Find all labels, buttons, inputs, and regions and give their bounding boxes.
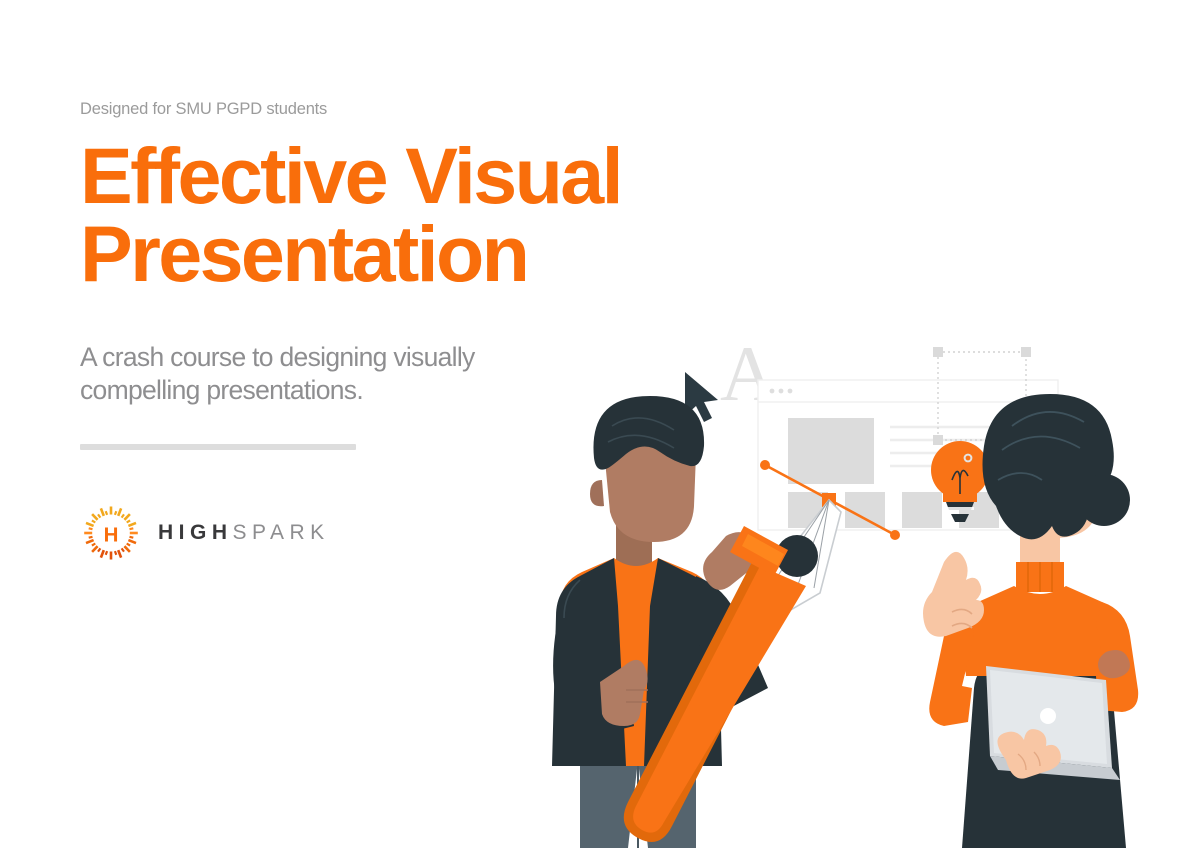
- svg-text:H: H: [104, 524, 119, 547]
- logo-word-high: HIGH: [158, 521, 233, 545]
- logo-word-spark: SPARK: [233, 521, 330, 545]
- designers-at-work-illustration: A: [520, 330, 1200, 848]
- highspark-wordmark: HIGH SPARK: [158, 521, 330, 545]
- highspark-sunburst-icon: H: [80, 502, 142, 564]
- page-title-line-2: Presentation: [80, 215, 640, 293]
- eyebrow-text: Designed for SMU PGPD students: [80, 100, 640, 119]
- presentation-title-slide: Designed for SMU PGPD students Effective…: [0, 0, 1200, 848]
- page-title-line-1: Effective Visual: [80, 137, 640, 215]
- page-title: Effective Visual Presentation: [80, 137, 640, 293]
- laptop-device: [986, 666, 1120, 780]
- divider-rule: [80, 444, 356, 450]
